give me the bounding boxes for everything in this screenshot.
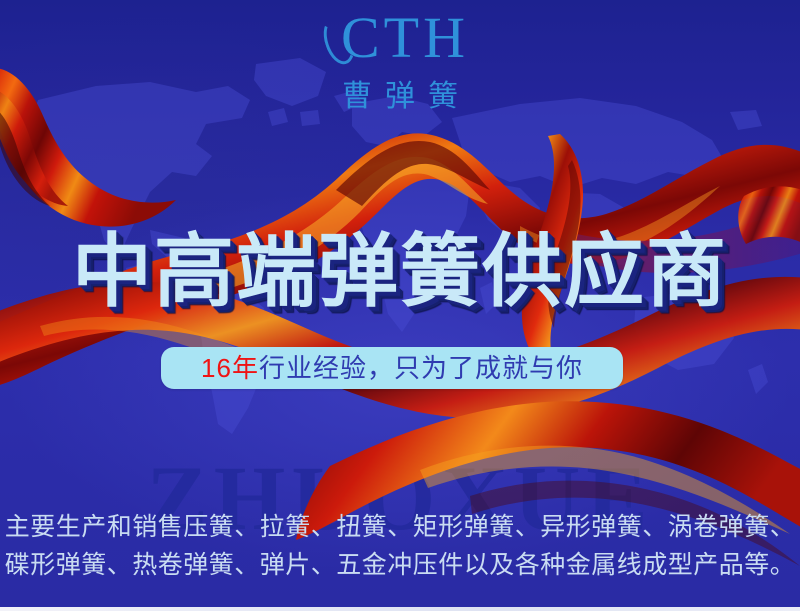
logo-wordmark: CTH <box>331 8 469 69</box>
logo-subtitle: 曹弹簧 <box>0 71 800 115</box>
description-block: 主要生产和销售压簧、拉簧、扭簧、矩形弹簧、异形弹簧、涡卷弹簧、 碟形弹簧、热卷弹… <box>0 508 800 584</box>
page-title: 中高端弹簧供应商 <box>0 232 800 312</box>
subtitle-badge: 16年行业经验，只为了成就与你 <box>161 347 623 389</box>
bottom-strip <box>0 607 800 611</box>
description-line: 主要生产和销售压簧、拉簧、扭簧、矩形弹簧、异形弹簧、涡卷弹簧、 <box>0 508 800 546</box>
subtitle-years: 16年 <box>201 353 259 383</box>
description-line: 碟形弹簧、热卷弹簧、弹片、五金冲压件以及各种金属线成型产品等。 <box>0 546 800 584</box>
promo-banner: ZHUOXUE <box>0 0 800 611</box>
logo-mark-text: CTH <box>341 5 469 70</box>
logo: CTH 曹弹簧 <box>0 8 800 115</box>
subtitle-text: 16年行业经验，只为了成就与你 <box>201 355 583 381</box>
subtitle-rest: 行业经验，只为了成就与你 <box>259 353 583 383</box>
